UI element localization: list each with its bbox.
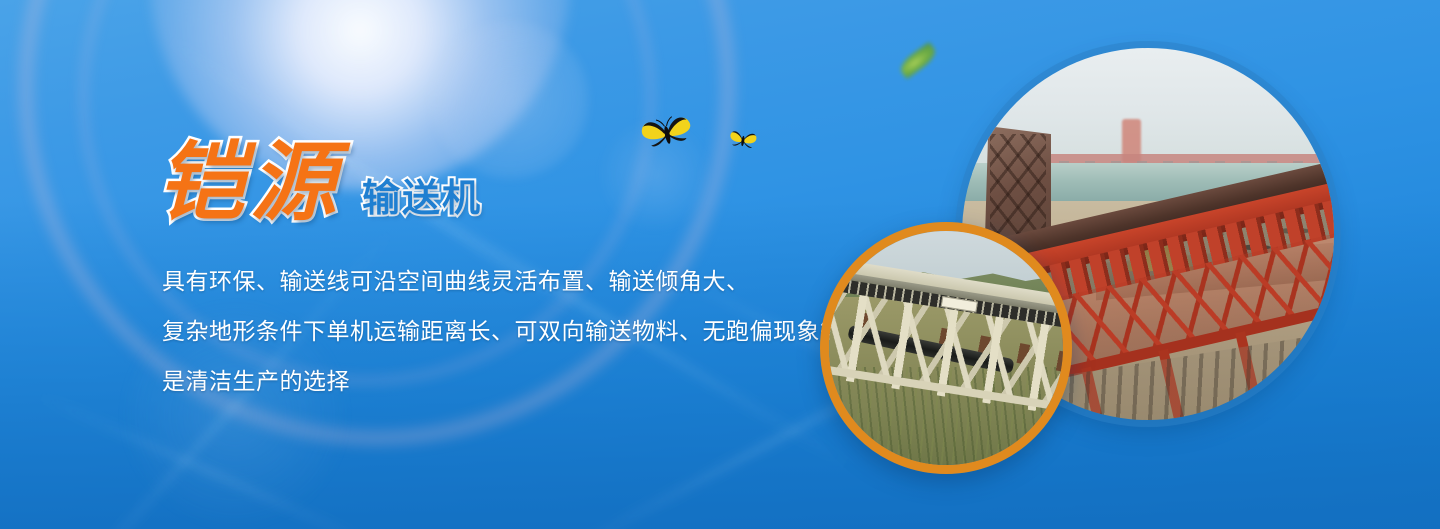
photo-scene-small <box>829 231 1063 465</box>
butterfly-icon <box>636 107 698 159</box>
product-title: 输送机 <box>362 180 482 226</box>
light-streak-3 <box>45 227 396 529</box>
light-streak-6 <box>36 393 385 529</box>
sun-flare-icon <box>150 0 570 190</box>
lens-flare-ring-outer <box>20 0 734 444</box>
brand-title: 铠源 <box>158 140 342 226</box>
light-streak-1 <box>163 35 597 330</box>
lens-flare-bubble-2 <box>600 120 710 230</box>
photo-truss-conveyor-gallery <box>820 222 1072 474</box>
lens-flare-bubble-3 <box>120 300 350 529</box>
lens-flare-ring-inner <box>80 0 654 384</box>
butterfly-icon <box>726 126 759 154</box>
leaf-icon <box>897 42 939 79</box>
lens-flare-bubble-1 <box>430 20 590 180</box>
light-streak-2 <box>304 136 856 471</box>
headline-group: 铠源 输送机 <box>158 140 482 226</box>
product-banner: 铠源 输送机 具有环保、输送线可沿空间曲线灵活布置、输送倾角大、 复杂地形条件下… <box>0 0 1440 529</box>
